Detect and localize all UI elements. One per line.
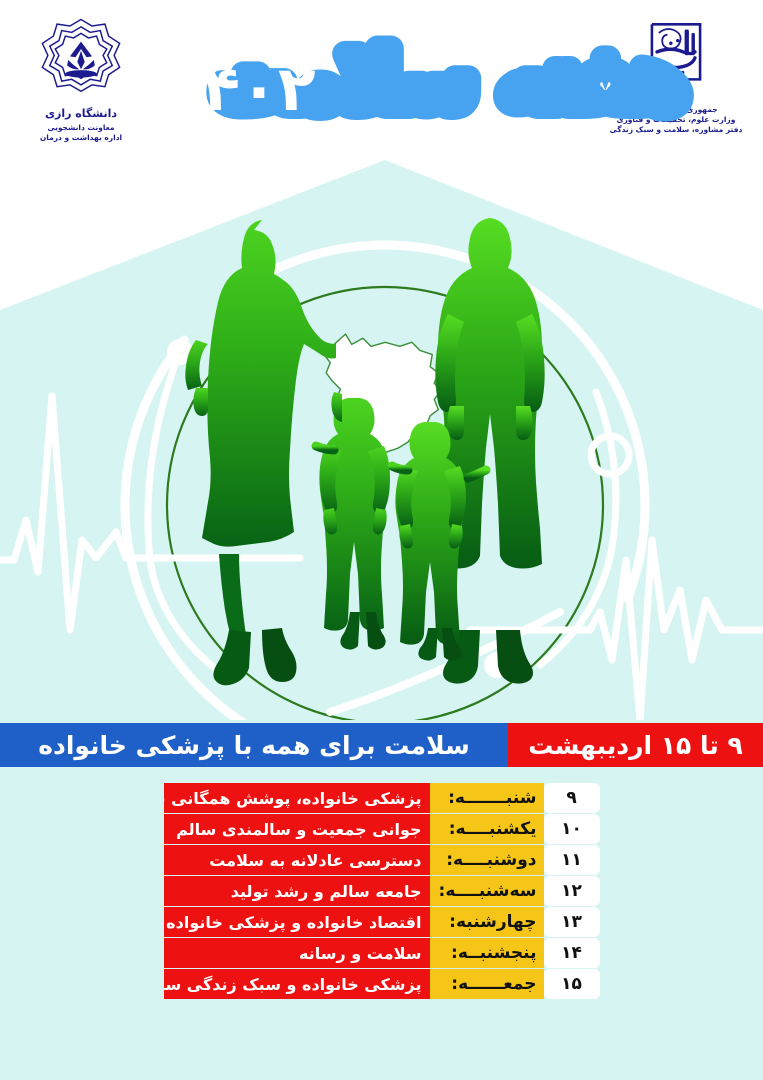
- day-name-label: جمعــــــه:: [430, 969, 544, 999]
- central-illustration: [0, 160, 763, 720]
- day-number-badge: ۱۵: [544, 969, 600, 999]
- slogan-banner: ۹ تا ۱۵ اردیبهشت سلامت برای همه با پزشکی…: [0, 723, 763, 767]
- day-topic-label: جامعه سالم و رشد تولید: [164, 876, 430, 906]
- day-number-badge: ۱۴: [544, 938, 600, 968]
- main-title-block: هفته سلامت ۱۴۰۲: [150, 18, 590, 158]
- right-logo-sub-line-3: دفتر مشاوره، سلامت و سبک زندگی: [601, 125, 751, 135]
- day-name-label: چهارشنبه:: [430, 907, 544, 937]
- razi-university-emblem-icon: [35, 14, 127, 106]
- left-logo-sub: معاونت دانشجویی اداره بهداشت و درمان: [16, 123, 146, 143]
- banner-date-range: ۹ تا ۱۵ اردیبهشت: [508, 723, 763, 767]
- day-number-badge: ۱۳: [544, 907, 600, 937]
- day-topic-label: جوانی جمعیت و سالمندی سالم: [164, 814, 430, 844]
- poster-header: دانشگاه رازی معاونت دانشجویی اداره بهداش…: [0, 0, 763, 170]
- left-logo-sub-line-1: معاونت دانشجویی: [16, 123, 146, 133]
- table-row[interactable]: ۱۵ جمعــــــه: پزشکی خانواده و سبک زندگی…: [164, 969, 600, 999]
- table-row[interactable]: ۱۰ یکشنبــــه: جوانی جمعیت و سالمندی سال…: [164, 814, 600, 844]
- table-row[interactable]: ۱۲ سه‌شنبــــه: جامعه سالم و رشد تولید: [164, 876, 600, 906]
- day-name-label: پنجشنبــه:: [430, 938, 544, 968]
- table-row[interactable]: ۹ شنبـــــــه: پزشکی خانواده، پوشش همگان…: [164, 783, 600, 813]
- day-number-badge: ۱۱: [544, 845, 600, 875]
- day-number-badge: ۹: [544, 783, 600, 813]
- table-row[interactable]: ۱۱ دوشنبــــه: دسترسی عادلانه به سلامت: [164, 845, 600, 875]
- left-logo-block: دانشگاه رازی معاونت دانشجویی اداره بهداش…: [16, 14, 146, 143]
- left-logo-sub-line-2: اداره بهداشت و درمان: [16, 133, 146, 143]
- left-logo-name: دانشگاه رازی: [16, 107, 146, 120]
- day-topic-label: پزشکی خانواده و سبک زندگی سالم: [164, 969, 430, 999]
- table-row[interactable]: ۱۳ چهارشنبه: اقتصاد خانواده و پزشکی خانو…: [164, 907, 600, 937]
- schedule-list: ۹ شنبـــــــه: پزشکی خانواده، پوشش همگان…: [0, 783, 763, 999]
- banner-slogan-text: سلامت برای همه با پزشکی خانواده: [0, 723, 508, 767]
- day-name-label: شنبـــــــه:: [430, 783, 544, 813]
- day-topic-label: پزشکی خانواده، پوشش همگانی سلامت: [164, 783, 430, 813]
- day-topic-label: دسترسی عادلانه به سلامت: [164, 845, 430, 875]
- day-number-badge: ۱۲: [544, 876, 600, 906]
- poster-root: دانشگاه رازی معاونت دانشجویی اداره بهداش…: [0, 0, 763, 1080]
- family-mother-silhouette-icon: [185, 220, 336, 685]
- day-name-label: سه‌شنبــــه:: [430, 876, 544, 906]
- table-row[interactable]: ۱۴ پنجشنبــه: سلامت و رسانه: [164, 938, 600, 968]
- day-topic-label: اقتصاد خانواده و پزشکی خانواده: [164, 907, 430, 937]
- day-topic-label: سلامت و رسانه: [164, 938, 430, 968]
- day-name-label: دوشنبــــه:: [430, 845, 544, 875]
- day-number-badge: ۱۰: [544, 814, 600, 844]
- day-name-label: یکشنبــــه:: [430, 814, 544, 844]
- main-title-year: ۱۴۰۲: [164, 52, 316, 125]
